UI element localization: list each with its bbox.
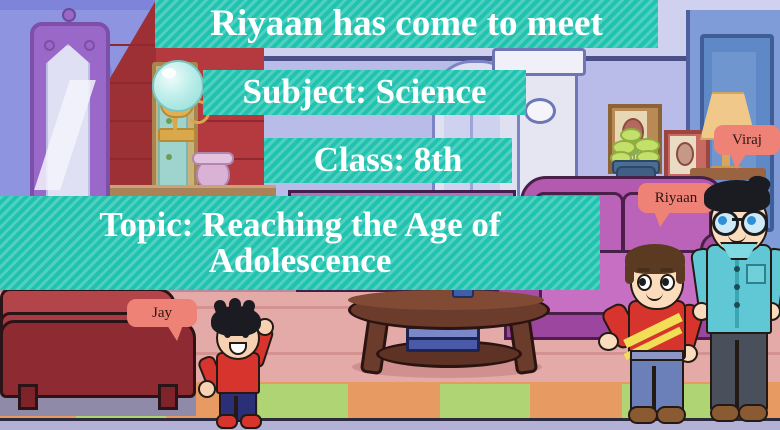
decorative-pot-rim: [192, 152, 234, 165]
viraj-shirt-button: [734, 302, 740, 308]
banner-topic: Topic: Reaching the Age of Adolescence: [0, 196, 600, 290]
riyaan-waistband: [630, 350, 684, 361]
riyaan-shoe: [656, 406, 686, 424]
plant-leaf: [620, 128, 642, 142]
riyaan-left-hand: [598, 332, 619, 351]
banner-subject: Subject: Science: [203, 70, 526, 115]
banner-intro: Riyaan has come to meet: [155, 0, 658, 48]
riyaan-eyebrow: [660, 268, 673, 272]
riyaan-pupil: [639, 278, 646, 286]
trophy-base: [158, 128, 196, 142]
character-viraj: [694, 178, 780, 430]
picture-vine-dot: [166, 154, 172, 160]
carpet-tile: [440, 384, 530, 418]
jay-hair-spike: [229, 298, 241, 311]
viraj-shirt-button: [734, 284, 740, 290]
banner-topic-line1: Topic: Reaching the Age of: [99, 207, 500, 243]
mirror-stud: [44, 40, 55, 51]
viraj-shirt-pocket: [746, 264, 766, 284]
riyaan-leg-split: [652, 366, 656, 412]
mirror-stud: [84, 40, 95, 51]
globe-highlight: [162, 68, 176, 78]
riyaan-sideburn: [676, 262, 685, 284]
name-label-jay: Jay: [127, 299, 197, 327]
jay-eye: [242, 330, 249, 338]
viraj-glasses-bridge: [732, 218, 742, 221]
scene-canvas: Jay Riyaan Viraj Riyaan has come to meet…: [0, 0, 780, 430]
jay-shoe: [216, 414, 238, 429]
jay-eye: [224, 330, 231, 338]
riyaan-shoe: [628, 406, 658, 424]
viraj-leg-split: [735, 340, 739, 408]
riyaan-jeans: [630, 352, 684, 414]
mirror-hook: [62, 8, 76, 22]
viraj-pupil: [747, 216, 756, 225]
riyaan-pupil: [662, 278, 669, 286]
jay-shoe: [240, 414, 262, 429]
column-ornament: [524, 98, 556, 124]
armchair-leg: [18, 384, 38, 410]
globe-trophy-lamp: [152, 60, 204, 112]
jay-lowered-hand: [198, 380, 216, 398]
armchair-leg: [158, 384, 178, 410]
portrait-face-b: [676, 142, 694, 166]
viraj-shoe: [710, 404, 740, 422]
viraj-trousers: [710, 326, 768, 412]
name-label-viraj: Viraj: [714, 125, 780, 155]
banner-topic-line2: Adolescence: [99, 243, 500, 279]
character-riyaan: [606, 240, 702, 430]
character-jay: [196, 300, 276, 426]
riyaan-eyebrow: [637, 268, 650, 272]
viraj-shirt-button: [734, 266, 740, 272]
viraj-pupil: [718, 216, 727, 225]
riyaan-sideburn: [625, 262, 634, 284]
viraj-shoe: [738, 404, 768, 422]
picture-vine-dot: [166, 118, 172, 124]
banner-class: Class: 8th: [264, 138, 512, 183]
name-label-riyaan: Riyaan: [638, 183, 714, 213]
coffee-table-surface: [348, 290, 544, 310]
